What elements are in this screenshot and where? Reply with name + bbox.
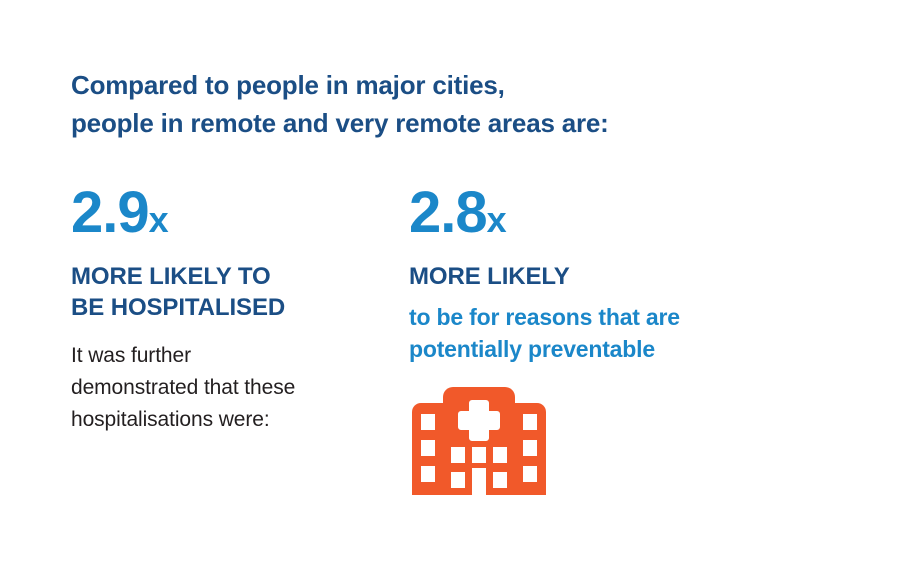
stat-value-number: 2.8	[409, 180, 487, 245]
stat-body-line-1: It was further	[71, 340, 391, 372]
stat-body-line-2: demonstrated that these	[71, 372, 391, 404]
stat-caption-preventable: MORE LIKELY	[409, 261, 749, 292]
stat-caption-line-1: MORE LIKELY TO	[71, 261, 391, 292]
stat-caption-line-2: BE HOSPITALISED	[71, 292, 391, 323]
stat-caption-hospitalised: MORE LIKELY TO BE HOSPITALISED	[71, 261, 391, 323]
infographic-canvas: Compared to people in major cities, peop…	[0, 0, 900, 570]
stat-value-number: 2.9	[71, 180, 149, 245]
stat-block-hospitalised: 2.9x MORE LIKELY TO BE HOSPITALISED It w…	[71, 182, 391, 436]
stat-body-line-3: hospitalisations were:	[71, 404, 391, 436]
stat-body-hospitalised: It was further demonstrated that these h…	[71, 340, 391, 436]
stat-subcaption-line-2: potentially preventable	[409, 333, 749, 365]
stat-value-preventable: 2.8x	[409, 182, 749, 251]
headline-line-1: Compared to people in major cities,	[71, 66, 831, 104]
page-title: Compared to people in major cities, peop…	[71, 66, 831, 142]
headline-line-2: people in remote and very remote areas a…	[71, 104, 831, 142]
stat-value-hospitalised: 2.9x	[71, 182, 391, 251]
stat-value-suffix: x	[149, 199, 169, 240]
stat-block-preventable: 2.8x MORE LIKELY to be for reasons that …	[409, 182, 749, 365]
hospital-icon	[410, 386, 548, 498]
stat-value-suffix: x	[487, 199, 507, 240]
stat-subcaption-line-1: to be for reasons that are	[409, 301, 749, 333]
stat-subcaption-preventable: to be for reasons that are potentially p…	[409, 301, 749, 365]
stat-caption-line-1: MORE LIKELY	[409, 261, 749, 292]
